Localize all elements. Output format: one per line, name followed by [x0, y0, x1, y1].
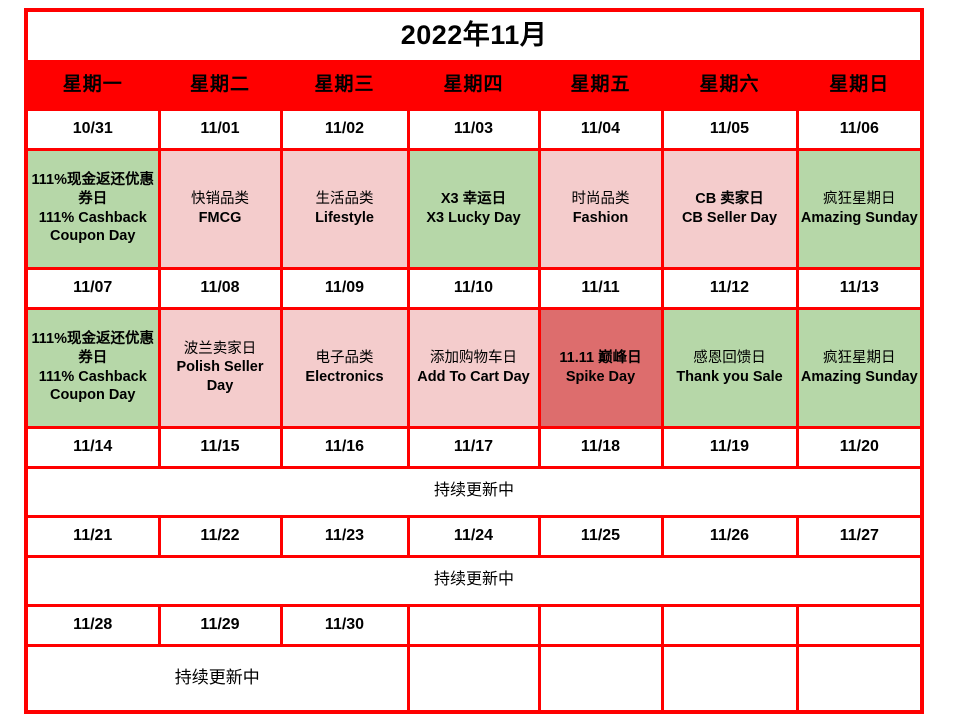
weekday-header-thursday: 星期四: [408, 61, 539, 109]
date-cell[interactable]: 11/16: [281, 427, 408, 467]
note-row-week-3: 持续更新中: [26, 467, 922, 516]
date-cell[interactable]: 11/21: [26, 516, 159, 556]
note-row-week-5: 持续更新中: [26, 645, 922, 712]
event-label-cn: 感恩回馈日: [666, 349, 794, 368]
date-cell[interactable]: 11/15: [159, 427, 281, 467]
event-label-en: Fashion: [543, 209, 659, 228]
event-label-cn: 添加购物车日: [412, 349, 536, 368]
date-cell[interactable]: 11/22: [159, 516, 281, 556]
date-row-week-1: 10/31 11/01 11/02 11/03 11/04 11/05 11/0…: [26, 109, 922, 149]
date-cell[interactable]: 11/14: [26, 427, 159, 467]
event-label-en: 111% Cashback Coupon Day: [30, 209, 156, 246]
event-cell[interactable]: 感恩回馈日 Thank you Sale: [662, 308, 797, 427]
date-cell[interactable]: 11/01: [159, 109, 281, 149]
event-label-cn: 11.11 巅峰日: [543, 349, 659, 368]
event-cell[interactable]: 波兰卖家日 Polish Seller Day: [159, 308, 281, 427]
calendar-title: 2022年11月: [26, 10, 922, 61]
event-label-cn: 时尚品类: [543, 190, 659, 209]
event-label-cn: 疯狂星期日: [801, 349, 919, 368]
event-label-cn: 电子品类: [285, 349, 405, 368]
weekday-header-saturday: 星期六: [662, 61, 797, 109]
event-label-en: Amazing Sunday: [801, 209, 919, 228]
event-cell[interactable]: 疯狂星期日 Amazing Sunday: [797, 149, 922, 268]
event-label-en: Electronics: [285, 368, 405, 387]
date-row-week-2: 11/07 11/08 11/09 11/10 11/11 11/12 11/1…: [26, 268, 922, 308]
date-cell[interactable]: 11/09: [281, 268, 408, 308]
date-cell[interactable]: 11/28: [26, 605, 159, 645]
empty-cell: [662, 645, 797, 712]
event-label-en: CB Seller Day: [666, 209, 794, 228]
date-cell[interactable]: 11/29: [159, 605, 281, 645]
date-cell[interactable]: 11/24: [408, 516, 539, 556]
event-label-cn: 111%现金返还优惠券日: [30, 330, 156, 367]
event-cell-spike-day[interactable]: 11.11 巅峰日 Spike Day: [539, 308, 662, 427]
date-row-week-4: 11/21 11/22 11/23 11/24 11/25 11/26 11/2…: [26, 516, 922, 556]
event-cell[interactable]: 111%现金返还优惠券日 111% Cashback Coupon Day: [26, 149, 159, 268]
event-cell[interactable]: 添加购物车日 Add To Cart Day: [408, 308, 539, 427]
empty-cell: [408, 645, 539, 712]
event-cell[interactable]: X3 幸运日 X3 Lucky Day: [408, 149, 539, 268]
event-cell[interactable]: 电子品类 Electronics: [281, 308, 408, 427]
date-cell[interactable]: 11/10: [408, 268, 539, 308]
event-label-cn: 波兰卖家日: [163, 340, 278, 359]
event-cell[interactable]: 快销品类 FMCG: [159, 149, 281, 268]
weekday-header-row: 星期一 星期二 星期三 星期四 星期五 星期六 星期日: [26, 61, 922, 109]
event-label-en: Amazing Sunday: [801, 368, 919, 387]
date-cell[interactable]: 11/03: [408, 109, 539, 149]
date-cell[interactable]: 11/30: [281, 605, 408, 645]
date-cell[interactable]: 11/25: [539, 516, 662, 556]
date-row-week-5: 11/28 11/29 11/30: [26, 605, 922, 645]
date-cell[interactable]: 11/13: [797, 268, 922, 308]
event-label-cn: CB 卖家日: [666, 190, 794, 209]
date-cell-empty: [797, 605, 922, 645]
update-note: 持续更新中: [26, 467, 922, 516]
event-label-cn: X3 幸运日: [412, 190, 536, 209]
date-cell-empty: [408, 605, 539, 645]
date-cell[interactable]: 11/12: [662, 268, 797, 308]
event-label-en: Polish Seller Day: [163, 358, 278, 395]
date-cell[interactable]: 11/02: [281, 109, 408, 149]
event-cell[interactable]: 生活品类 Lifestyle: [281, 149, 408, 268]
weekday-header-friday: 星期五: [539, 61, 662, 109]
weekday-header-sunday: 星期日: [797, 61, 922, 109]
calendar-title-row: 2022年11月: [26, 10, 922, 61]
empty-cell: [539, 645, 662, 712]
date-cell-empty: [539, 605, 662, 645]
event-label-en: Thank you Sale: [666, 368, 794, 387]
empty-cell: [797, 645, 922, 712]
calendar-container: 2022年11月 星期一 星期二 星期三 星期四 星期五 星期六 星期日 10/…: [24, 8, 920, 693]
date-cell[interactable]: 11/20: [797, 427, 922, 467]
event-label-cn: 疯狂星期日: [801, 190, 919, 209]
event-label-en: 111% Cashback Coupon Day: [30, 368, 156, 405]
event-label-en: Lifestyle: [285, 209, 405, 228]
date-cell[interactable]: 11/18: [539, 427, 662, 467]
date-cell[interactable]: 11/26: [662, 516, 797, 556]
date-cell[interactable]: 11/06: [797, 109, 922, 149]
date-cell[interactable]: 11/04: [539, 109, 662, 149]
event-cell[interactable]: 111%现金返还优惠券日 111% Cashback Coupon Day: [26, 308, 159, 427]
event-cell[interactable]: 时尚品类 Fashion: [539, 149, 662, 268]
weekday-header-monday: 星期一: [26, 61, 159, 109]
event-row-week-2: 111%现金返还优惠券日 111% Cashback Coupon Day 波兰…: [26, 308, 922, 427]
date-cell[interactable]: 11/11: [539, 268, 662, 308]
weekday-header-tuesday: 星期二: [159, 61, 281, 109]
update-note: 持续更新中: [26, 556, 922, 605]
november-2022-calendar: 2022年11月 星期一 星期二 星期三 星期四 星期五 星期六 星期日 10/…: [24, 8, 924, 714]
date-cell-empty: [662, 605, 797, 645]
note-row-week-4: 持续更新中: [26, 556, 922, 605]
date-cell[interactable]: 11/05: [662, 109, 797, 149]
event-label-en: FMCG: [163, 209, 278, 228]
date-row-week-3: 11/14 11/15 11/16 11/17 11/18 11/19 11/2…: [26, 427, 922, 467]
event-label-en: Spike Day: [543, 368, 659, 387]
event-label-en: X3 Lucky Day: [412, 209, 536, 228]
date-cell[interactable]: 10/31: [26, 109, 159, 149]
date-cell[interactable]: 11/19: [662, 427, 797, 467]
date-cell[interactable]: 11/23: [281, 516, 408, 556]
date-cell[interactable]: 11/08: [159, 268, 281, 308]
event-cell[interactable]: 疯狂星期日 Amazing Sunday: [797, 308, 922, 427]
event-row-week-1: 111%现金返还优惠券日 111% Cashback Coupon Day 快销…: [26, 149, 922, 268]
update-note: 持续更新中: [26, 645, 408, 712]
weekday-header-wednesday: 星期三: [281, 61, 408, 109]
event-label-cn: 111%现金返还优惠券日: [30, 171, 156, 208]
event-label-cn: 快销品类: [163, 190, 278, 209]
date-cell[interactable]: 11/27: [797, 516, 922, 556]
event-cell[interactable]: CB 卖家日 CB Seller Day: [662, 149, 797, 268]
date-cell[interactable]: 11/07: [26, 268, 159, 308]
event-label-cn: 生活品类: [285, 190, 405, 209]
date-cell[interactable]: 11/17: [408, 427, 539, 467]
event-label-en: Add To Cart Day: [412, 368, 536, 387]
